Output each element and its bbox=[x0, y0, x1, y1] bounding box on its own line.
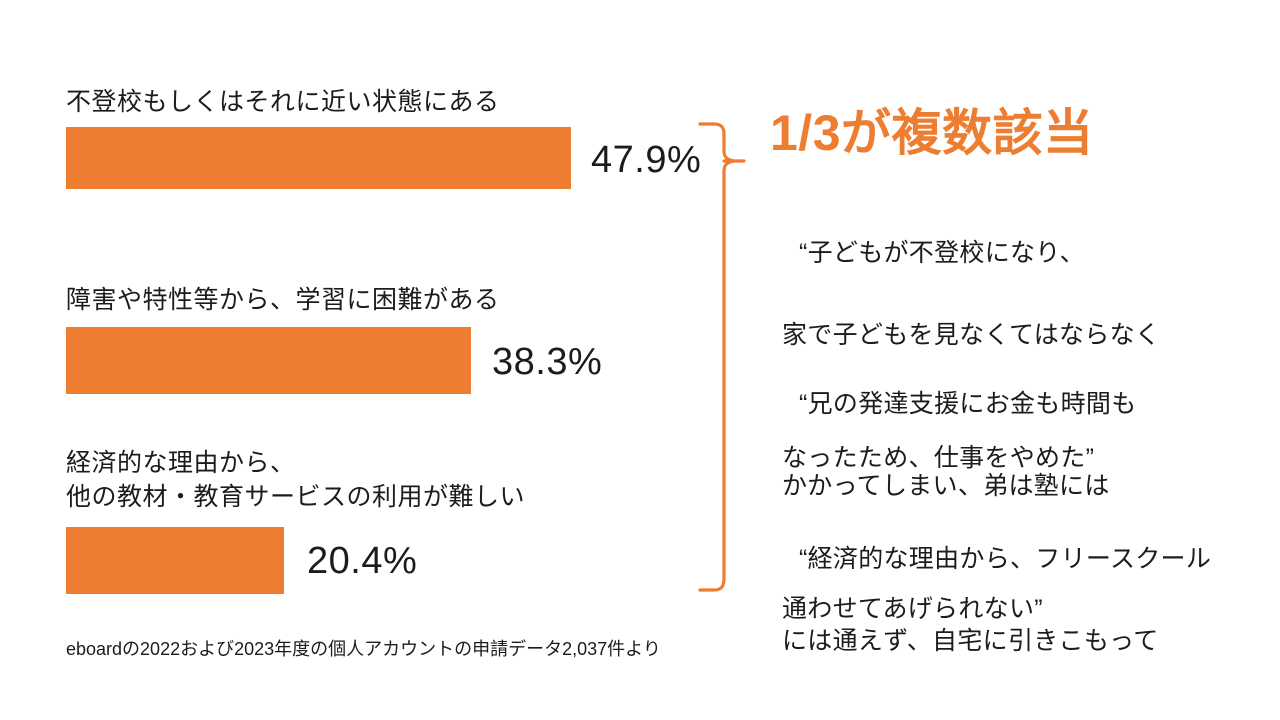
slide-canvas: 不登校もしくはそれに近い状態にある 47.9% 障害や特性等から、学習に困難があ… bbox=[0, 0, 1280, 720]
curly-brace-icon bbox=[694, 104, 750, 608]
bar-category-label-1: 不登校もしくはそれに近い状態にある bbox=[66, 85, 500, 119]
bar-rect-1 bbox=[66, 127, 571, 189]
bar-value-label-2: 38.3% bbox=[492, 343, 602, 381]
quote-3-line-1: “経済的な理由から、フリースクール bbox=[799, 545, 1211, 573]
bar-rect-2 bbox=[66, 327, 471, 394]
testimonial-quote-3: “経済的な理由から、フリースクール には通えず、自宅に引きこもって しまっている… bbox=[770, 498, 1211, 720]
bar-category-label-2: 障害や特性等から、学習に困難がある bbox=[66, 283, 500, 317]
bar-category-label-3-line2: 他の教材・教育サービスの利用が難しい bbox=[66, 480, 525, 514]
source-footnote: eboardの2022および2023年度の個人アカウントの申請データ2,037件… bbox=[66, 637, 661, 661]
bar-value-label-3: 20.4% bbox=[307, 542, 417, 580]
quote-2-line-1: “兄の発達支援にお金も時間も bbox=[799, 390, 1137, 418]
bar-rect-3 bbox=[66, 527, 284, 594]
quote-3-line-2: には通えず、自宅に引きこもって bbox=[770, 621, 1211, 662]
callout-headline: 1/3が複数該当 bbox=[770, 104, 1094, 162]
bar-category-label-3-line1: 経済的な理由から、 bbox=[66, 446, 296, 480]
bar-value-label-1: 47.9% bbox=[591, 141, 701, 179]
quote-1-line-1: “子どもが不登校になり、 bbox=[799, 239, 1085, 267]
